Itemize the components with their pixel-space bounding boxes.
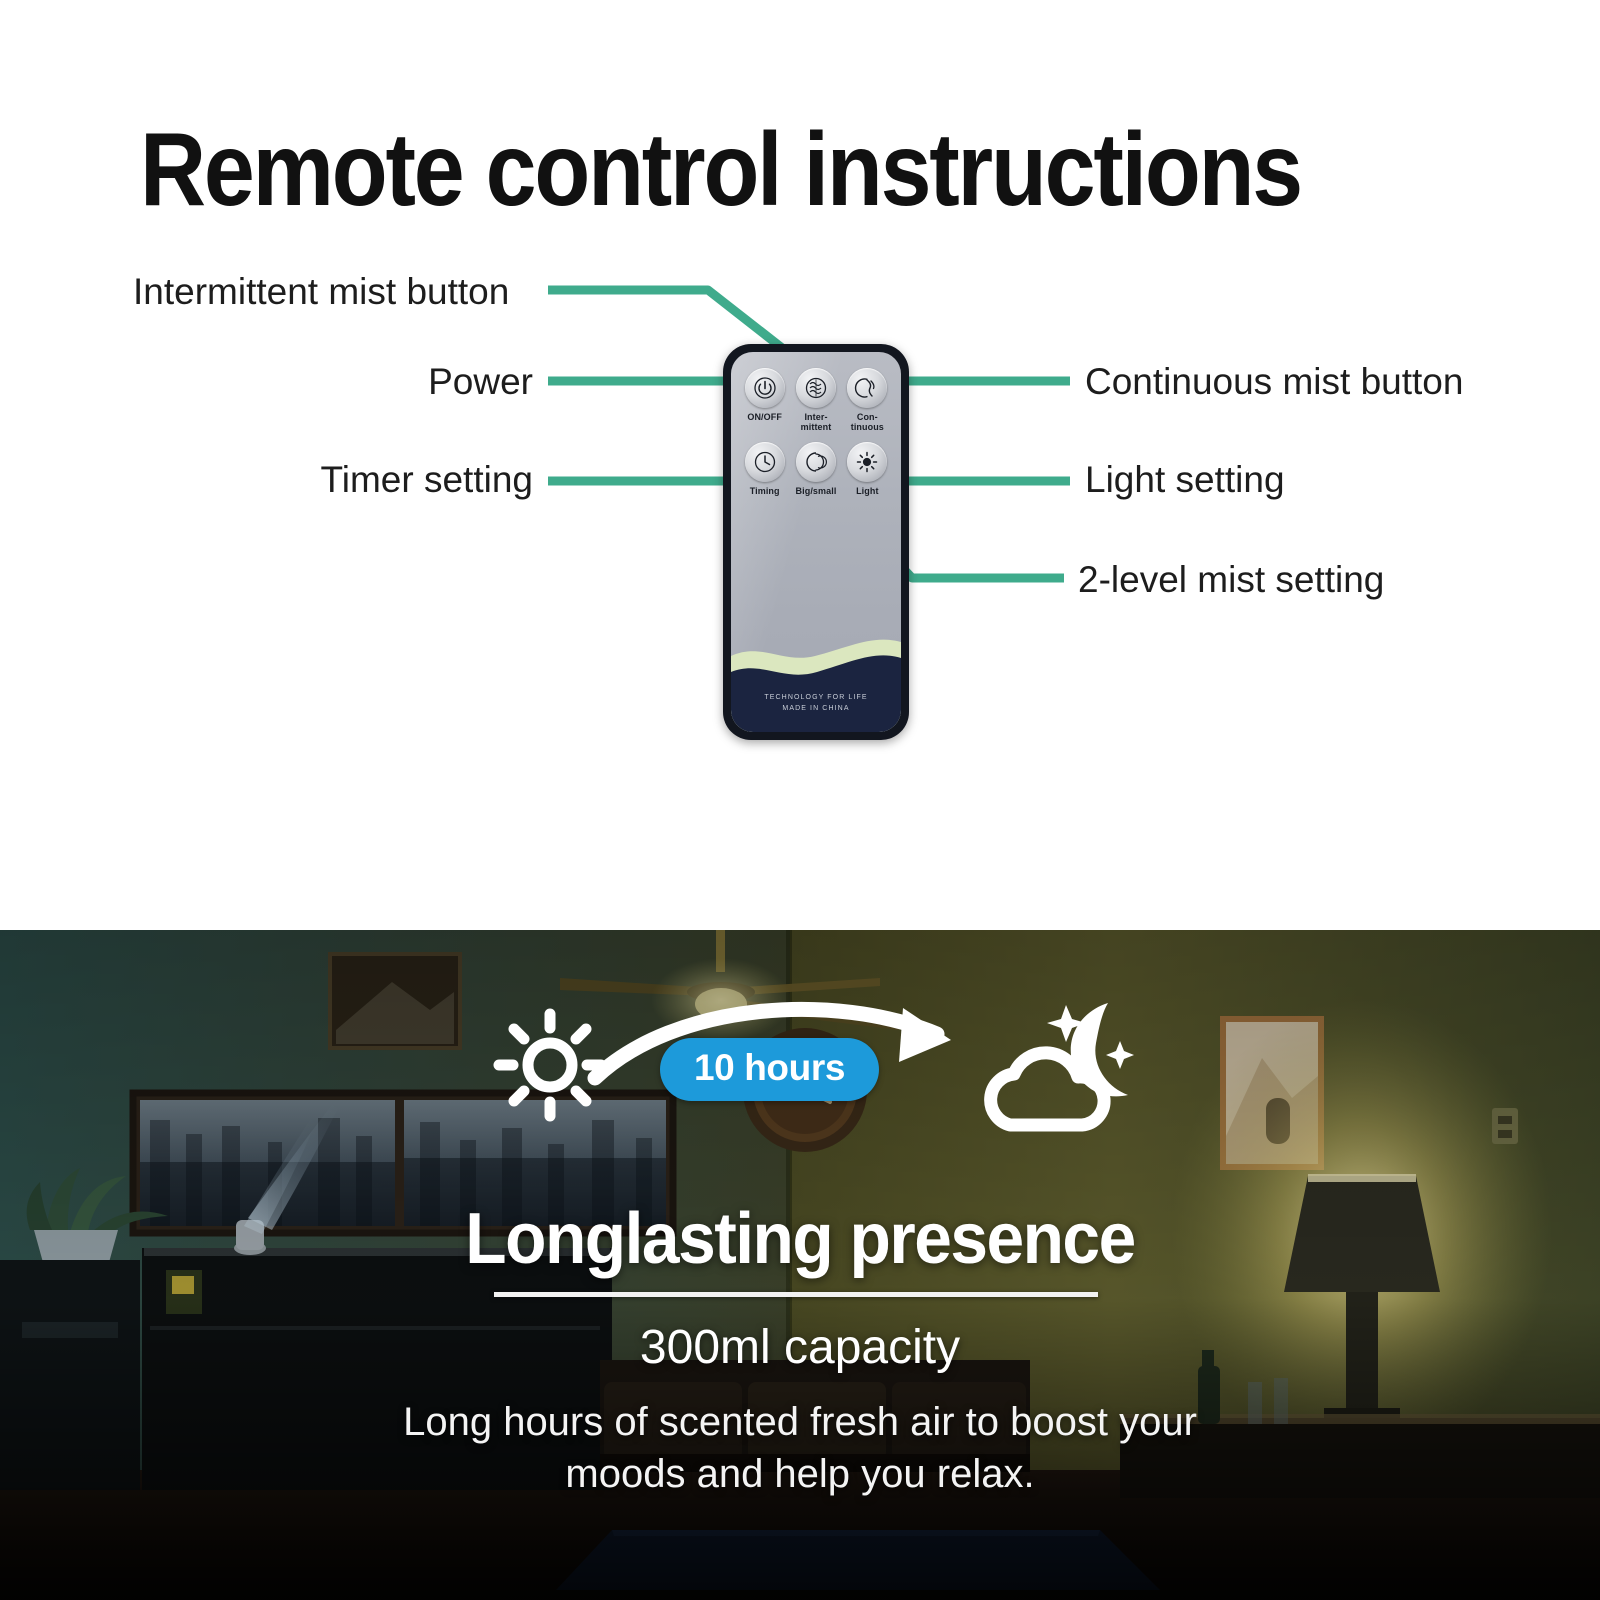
callout-label-power: Power — [133, 362, 533, 402]
remote-footer-line1: TECHNOLOGY FOR LIFE — [731, 692, 901, 703]
clock-icon — [745, 442, 785, 482]
remote-button-timing[interactable]: Timing — [739, 442, 790, 496]
remote-button-row-top: ON/OFF — [731, 368, 901, 432]
lifestyle-photo-section: 10 hours Longlasting presence 300ml capa… — [0, 930, 1600, 1600]
remote-footer-line2: MADE IN CHINA — [731, 703, 901, 714]
remote-button-caption: ON/OFF — [747, 412, 782, 422]
remote-faceplate: ON/OFF — [731, 352, 901, 732]
callout-label-continuous: Continuous mist button — [1085, 362, 1463, 402]
remote-button-light[interactable]: Light — [842, 442, 893, 496]
mist-level-icon — [796, 442, 836, 482]
callout-label-intermittent: Intermittent mist button — [133, 272, 533, 312]
duration-badge: 10 hours — [660, 1038, 879, 1101]
remote-button-grid: ON/OFF — [731, 368, 901, 506]
power-icon — [745, 368, 785, 408]
callout-label-light: Light setting — [1085, 460, 1285, 500]
remote-button-caption: Light — [856, 486, 879, 496]
remote-button-mist-level[interactable]: Big/small — [790, 442, 841, 496]
remote-wave-decoration — [731, 612, 901, 732]
remote-instructions-section: Remote control instructions — [0, 0, 1600, 930]
callout-label-two-level: 2-level mist setting — [1078, 560, 1384, 600]
remote-button-caption: Inter- mittent — [801, 412, 832, 432]
remote-button-caption: Con- tinuous — [851, 412, 884, 432]
remote-button-caption: Timing — [750, 486, 780, 496]
day-to-night-graphic: 10 hours — [0, 990, 1600, 1140]
remote-control-device: ON/OFF — [723, 344, 909, 740]
moon-cloud-stars-icon — [970, 995, 1140, 1140]
photo-body-copy: Long hours of scented fresh air to boost… — [400, 1396, 1200, 1500]
product-infographic: Remote control instructions — [0, 0, 1600, 1600]
photo-headline: Longlasting presence — [48, 1202, 1552, 1276]
page-title: Remote control instructions — [140, 118, 1319, 222]
headline-divider — [494, 1292, 1098, 1297]
remote-button-caption: Big/small — [796, 486, 837, 496]
remote-footer-text: TECHNOLOGY FOR LIFE MADE IN CHINA — [731, 692, 901, 714]
remote-button-continuous[interactable]: Con- tinuous — [842, 368, 893, 432]
intermittent-icon — [796, 368, 836, 408]
callout-label-timer: Timer setting — [133, 460, 533, 500]
remote-button-intermittent[interactable]: Inter- mittent — [790, 368, 841, 432]
brightness-icon — [847, 442, 887, 482]
remote-button-onoff[interactable]: ON/OFF — [739, 368, 790, 422]
continuous-icon — [847, 368, 887, 408]
photo-subheadline: 300ml capacity — [0, 1322, 1600, 1374]
remote-button-row-bottom: Timing Big/small — [731, 442, 901, 496]
